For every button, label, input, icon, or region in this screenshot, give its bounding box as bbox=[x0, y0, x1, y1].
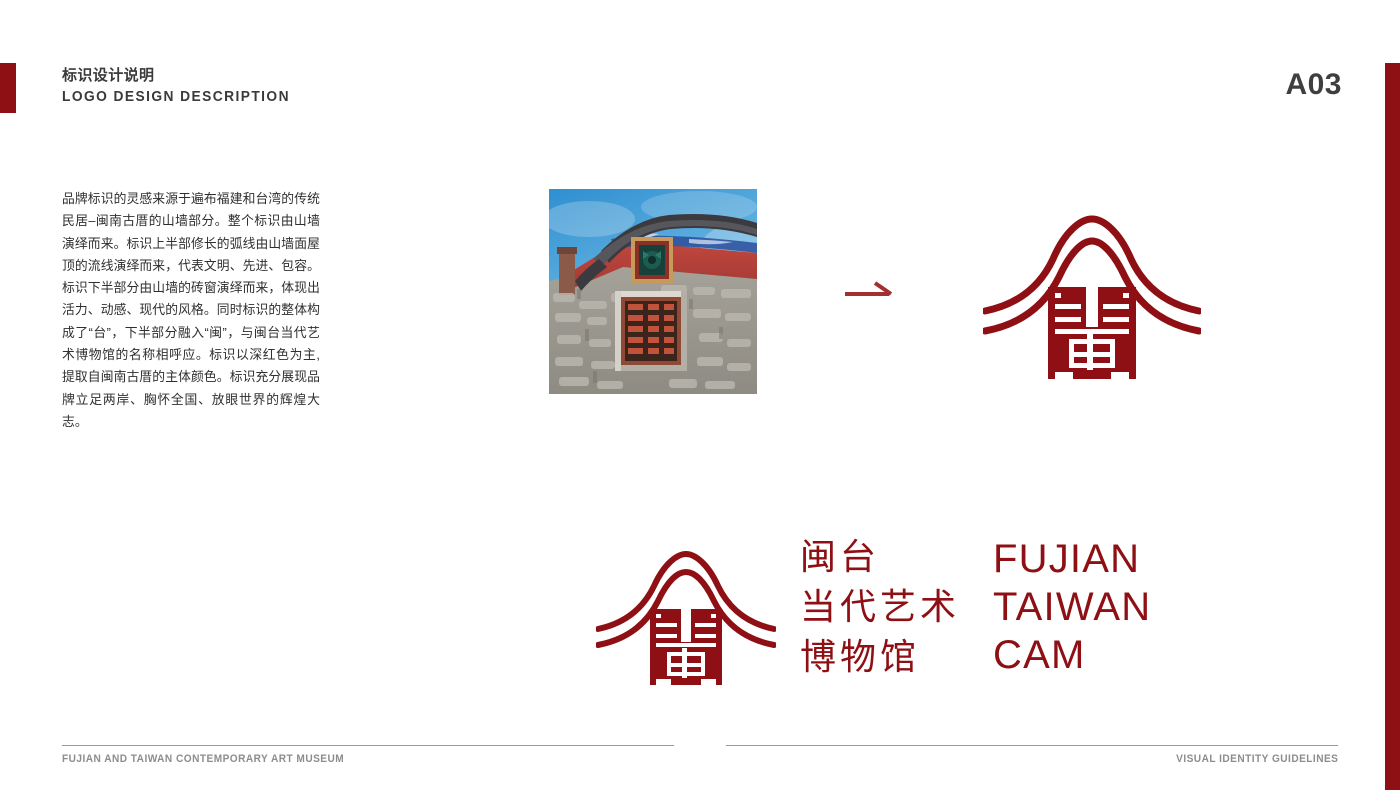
presentation-page: 标识设计说明 LOGO DESIGN DESCRIPTION A03 品牌标识的… bbox=[0, 0, 1400, 806]
footer-document-name: VISUAL IDENTITY GUIDELINES bbox=[1176, 753, 1338, 765]
accent-bar-right bbox=[1385, 63, 1400, 790]
lockup-chinese-line-3: 博物馆 bbox=[800, 633, 960, 683]
lockup-chinese-name: 闽台 当代艺术 博物馆 bbox=[800, 533, 960, 683]
lockup-mark bbox=[596, 543, 776, 688]
accent-bar-left bbox=[0, 63, 16, 113]
reference-photo-image bbox=[549, 189, 757, 394]
page-title-english: LOGO DESIGN DESCRIPTION bbox=[62, 86, 290, 108]
footer-divider-left bbox=[62, 745, 674, 746]
page-header: 标识设计说明 LOGO DESIGN DESCRIPTION bbox=[62, 66, 302, 108]
logo-lockup: 闽台 当代艺术 博物馆 FUJIAN TAIWAN CAM bbox=[596, 533, 1206, 693]
lockup-english-line-3: CAM bbox=[993, 631, 1151, 679]
description-text: 品牌标识的灵感来源于遍布福建和台湾的传统民居–闽南古厝的山墙部分。整个标识由山墙… bbox=[62, 188, 320, 433]
lockup-english-line-2: TAIWAN bbox=[993, 583, 1151, 631]
page-number: A03 bbox=[1285, 68, 1342, 102]
lockup-chinese-line-1: 闽台 bbox=[800, 533, 960, 583]
lockup-english-line-1: FUJIAN bbox=[993, 535, 1151, 583]
lockup-chinese-line-2: 当代艺术 bbox=[800, 583, 960, 633]
arrow-right-icon bbox=[845, 280, 895, 304]
page-title-chinese: 标识设计说明 bbox=[62, 66, 302, 86]
footer-museum-name: FUJIAN AND TAIWAN CONTEMPORARY ART MUSEU… bbox=[62, 753, 344, 765]
footer-divider-right bbox=[726, 745, 1338, 746]
lockup-english-name: FUJIAN TAIWAN CAM bbox=[993, 535, 1151, 679]
reference-photo bbox=[549, 189, 757, 394]
primary-logo bbox=[983, 205, 1201, 385]
